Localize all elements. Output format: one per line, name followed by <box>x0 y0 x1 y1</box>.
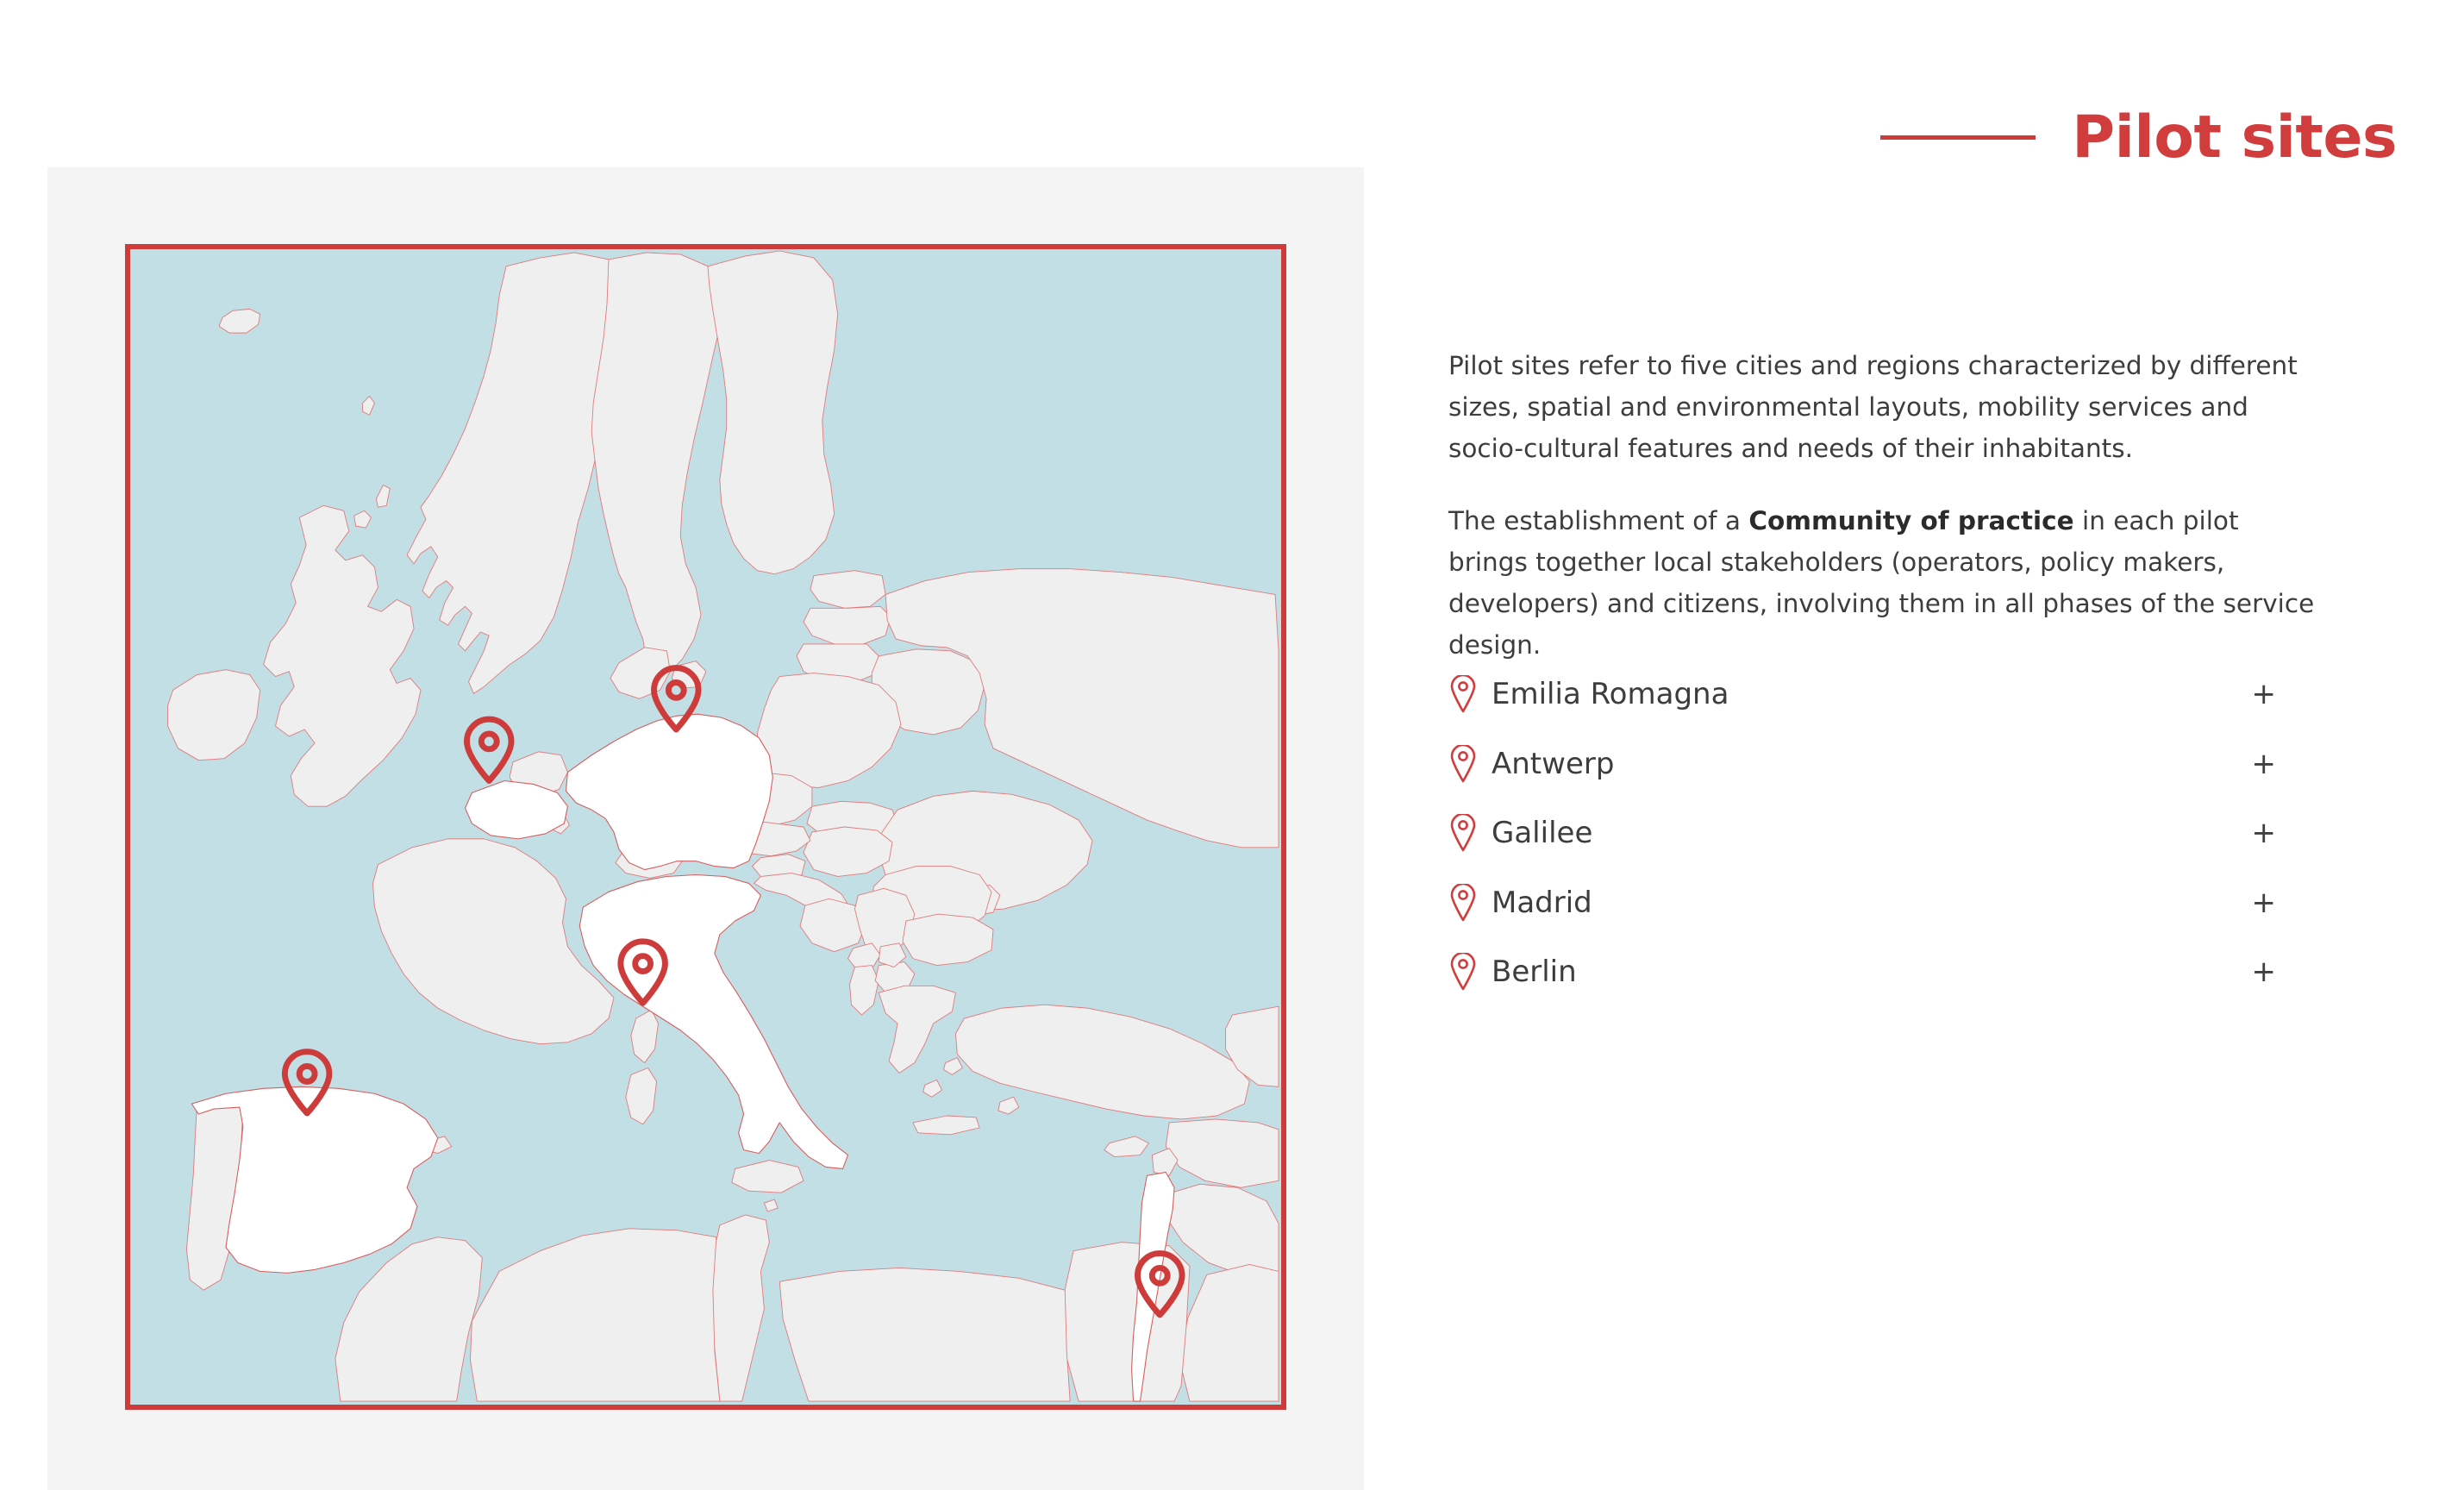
site-label: Galilee <box>1492 818 1592 848</box>
country-egypt <box>1063 1243 1190 1401</box>
community-of-practice-emphasis: Community of practice <box>1748 506 2073 535</box>
paragraph-2-lead: The establishment of a <box>1448 506 1748 535</box>
europe-map-frame <box>125 244 1286 1410</box>
accordion-item-emilia-romagna[interactable]: Emilia Romagna + <box>1448 660 2298 729</box>
paragraph-1: Pilot sites refer to five cities and reg… <box>1448 345 2319 469</box>
site-label: Berlin <box>1492 957 1577 986</box>
expand-toggle[interactable]: + <box>2252 679 2277 709</box>
map-pin-icon <box>1448 675 1478 713</box>
expand-toggle[interactable]: + <box>2252 888 2277 917</box>
expand-toggle[interactable]: + <box>2252 818 2277 848</box>
map-pin-icon <box>1448 814 1478 852</box>
map-pin-icon <box>1448 745 1478 783</box>
page-header: Pilot sites <box>1788 69 2397 206</box>
accordion-item-berlin[interactable]: Berlin + <box>1448 937 2298 1007</box>
accordion-item-galilee[interactable]: Galilee + <box>1448 798 2298 868</box>
pilot-sites-accordion: Emilia Romagna + Antwerp + Galilee + <box>1448 660 2298 1007</box>
map-pin-icon <box>1448 953 1478 991</box>
map-panel <box>47 167 1364 1490</box>
site-label: Antwerp <box>1492 749 1614 779</box>
europe-map[interactable] <box>130 249 1281 1405</box>
site-label: Madrid <box>1492 888 1592 917</box>
map-pin-icon <box>1448 884 1478 922</box>
accordion-item-madrid[interactable]: Madrid + <box>1448 868 2298 938</box>
country-finland <box>708 251 838 574</box>
page-title: Pilot sites <box>2072 109 2397 167</box>
country-libya <box>779 1268 1070 1401</box>
site-label: Emilia Romagna <box>1492 679 1729 709</box>
content-column: Pilot sites Pilot sites refer to five ci… <box>1448 0 2397 1490</box>
expand-toggle[interactable]: + <box>2252 749 2277 779</box>
paragraph-2: The establishment of a Community of prac… <box>1448 500 2319 666</box>
title-rule <box>1880 135 2036 140</box>
expand-toggle[interactable]: + <box>2252 957 2277 986</box>
accordion-item-antwerp[interactable]: Antwerp + <box>1448 729 2298 799</box>
intro-text-block: Pilot sites refer to five cities and reg… <box>1448 345 2319 697</box>
